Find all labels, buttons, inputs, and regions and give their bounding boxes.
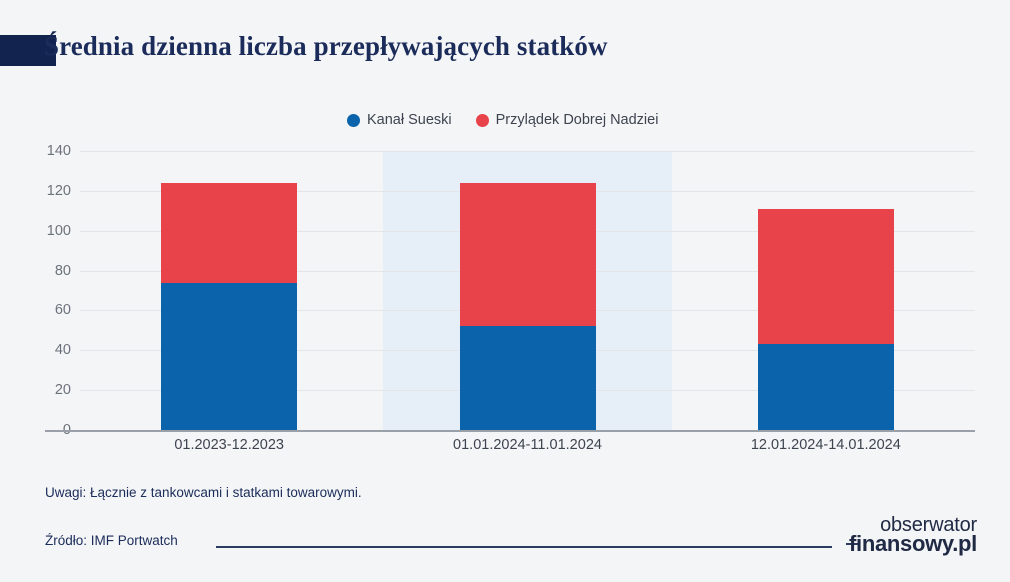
bar-group[interactable] (460, 151, 596, 430)
y-axis-tick-label: 20 (55, 382, 71, 398)
x-axis-label: 01.01.2024-11.01.2024 (453, 437, 602, 453)
y-axis-tick-label: 100 (47, 223, 71, 239)
bar-segment-kanal-sueski[interactable] (161, 283, 297, 430)
chart-grid: 140120100806040200 (80, 151, 975, 430)
bar-group[interactable] (758, 151, 894, 430)
chart-legend: Kanał Sueski Przylądek Dobrej Nadziei (347, 112, 672, 128)
chart-page: Średnia dzienna liczba przepływających s… (0, 0, 1010, 582)
source-divider (216, 546, 832, 548)
y-axis-tick-label: 60 (55, 302, 71, 318)
circle-marker-icon (476, 114, 489, 127)
bar-segment-kanal-sueski[interactable] (460, 326, 596, 430)
chart-note: Uwagi: Łącznie z tankowcami i statkami t… (45, 485, 362, 500)
logo-text-bottom: finansowy.pl (849, 533, 977, 555)
circle-marker-icon (347, 114, 360, 127)
bar-segment-przyladek-dobrej-nadziei[interactable] (460, 183, 596, 326)
legend-item-kanal-sueski[interactable]: Kanał Sueski (347, 112, 452, 128)
legend-label: Przylądek Dobrej Nadziei (496, 112, 659, 128)
x-axis-label: 01.2023-12.2023 (174, 437, 284, 453)
bar-group[interactable] (161, 151, 297, 430)
legend-label: Kanał Sueski (367, 112, 452, 128)
legend-item-przyladek-dobrej-nadziei[interactable]: Przylądek Dobrej Nadziei (476, 112, 659, 128)
bars-layer (80, 151, 975, 430)
chart-plot-area: 140120100806040200 01.2023-12.202301.01.… (45, 140, 975, 432)
bar-segment-kanal-sueski[interactable] (758, 344, 894, 430)
chart-source: Źródło: IMF Portwatch (45, 533, 178, 548)
x-axis-labels: 01.2023-12.202301.01.2024-11.01.202412.0… (80, 437, 975, 459)
y-axis-tick-label: 40 (55, 342, 71, 358)
x-axis-label: 12.01.2024-14.01.2024 (751, 437, 901, 453)
x-axis-line (45, 430, 975, 432)
page-title: Średnia dzienna liczba przepływających s… (44, 31, 608, 62)
bar-segment-przyladek-dobrej-nadziei[interactable] (758, 209, 894, 345)
site-logo[interactable]: obserwator finansowy.pl (849, 515, 977, 555)
bar-segment-przyladek-dobrej-nadziei[interactable] (161, 183, 297, 283)
y-axis-tick-label: 140 (47, 143, 71, 159)
y-axis-tick-label: 80 (55, 263, 71, 279)
y-axis-tick-label: 120 (47, 183, 71, 199)
